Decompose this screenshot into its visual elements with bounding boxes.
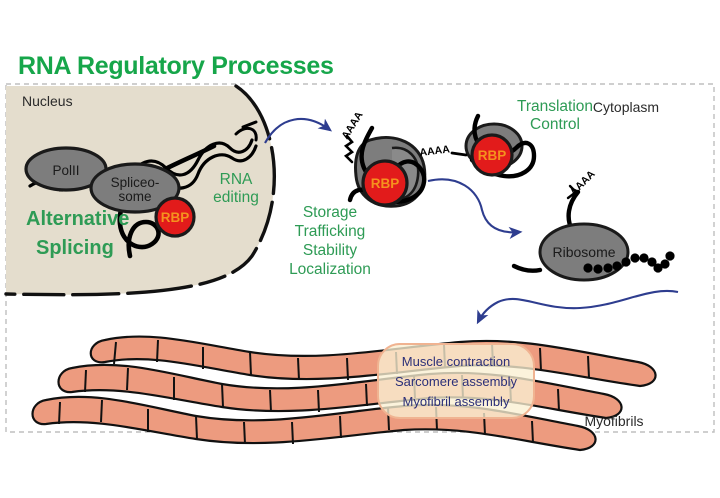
ribosome-label: Ribosome [552, 244, 615, 260]
myofibrils-label: Myofibrils [584, 413, 643, 429]
outcome-myofibril-assembly: Myofibril assembly [403, 394, 510, 409]
cytoplasm-label: Cytoplasm [593, 99, 659, 115]
storage-mrnp-complex: AAAA RBP [339, 109, 424, 206]
ribosome-polya-label: AAAA [568, 168, 598, 198]
storage-polya-label: AAAA [339, 109, 365, 141]
ribosome-complex: AAAA Ribosome [514, 168, 675, 280]
arrow-nucleus-to-storage [265, 119, 330, 143]
localization-label: Localization [289, 261, 371, 278]
spliceosome-label-line2: some [118, 189, 151, 204]
storage-function-labels: Storage Trafficking Stability Localizati… [289, 204, 371, 278]
translation-control-line1: Translation [517, 98, 593, 115]
translation-control-line2: Control [530, 116, 580, 133]
translation-rbp-label: RBP [478, 148, 507, 163]
outcome-sarcomere-assembly: Sarcomere assembly [395, 374, 518, 389]
myofibrils-group: Muscle contraction Sarcomere assembly My… [33, 337, 656, 450]
stability-label: Stability [303, 242, 358, 259]
arrow-storage-to-ribosome [428, 179, 520, 232]
page-title: RNA Regulatory Processes [18, 52, 334, 80]
alternative-splicing-line1: Alternative [26, 208, 129, 230]
alternative-splicing-line2: Splicing [36, 237, 114, 259]
translation-control-mrnp: AAAA RBP [419, 116, 534, 176]
nucleus-rbp-label: RBP [161, 210, 190, 225]
outcome-muscle-contraction: Muscle contraction [402, 354, 510, 369]
arrow-ribosome-to-myofibrils [478, 291, 678, 322]
trafficking-label: Trafficking [295, 223, 366, 240]
storage-label: Storage [303, 204, 357, 221]
storage-rbp-label: RBP [371, 176, 400, 191]
rna-editing-line1: RNA [220, 171, 253, 188]
nucleus-label: Nucleus [22, 93, 73, 109]
translation-polya-label: AAAA [419, 143, 451, 159]
polii-label: PolII [52, 163, 79, 178]
spliceosome-label-line1: Spliceo- [111, 175, 160, 190]
diagram-canvas: RNA Regulatory Processes Nucleus [0, 0, 720, 498]
rna-regulatory-processes-figure: RNA Regulatory Processes Nucleus [0, 0, 720, 498]
rna-editing-line2: editing [213, 189, 259, 206]
nucleus-rbp-protein: RBP [156, 198, 194, 236]
